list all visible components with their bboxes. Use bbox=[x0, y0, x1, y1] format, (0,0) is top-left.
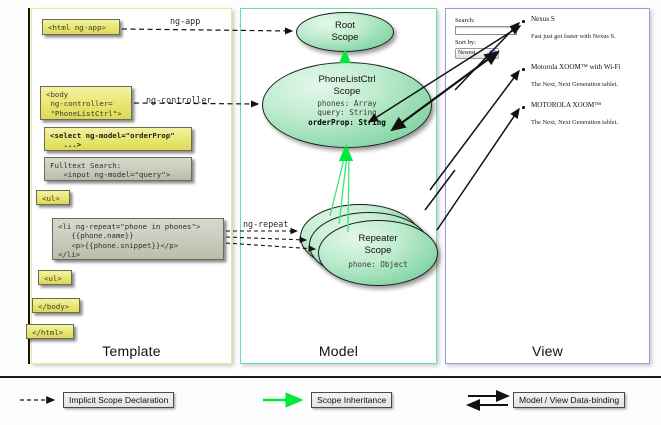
legend-data-binding: Model / View Data-binding bbox=[513, 392, 625, 408]
phone-snippet: The Next, Next Generation tablet. bbox=[531, 119, 618, 126]
figure-bottom-rule bbox=[0, 376, 661, 378]
legend-implicit-scope: Implicit Scope Declaration bbox=[63, 392, 174, 408]
panel-template-label: Template bbox=[32, 343, 231, 359]
body-close-box: </body> bbox=[32, 298, 80, 313]
phone-name[interactable]: MOTOROLA XOOM™ bbox=[531, 101, 601, 109]
panel-model-label: Model bbox=[241, 343, 436, 359]
repeater-scope-title: Repeater Scope bbox=[319, 233, 437, 256]
body-tag-box: <body ng-controller= "PhoneListCtrl"> bbox=[40, 86, 132, 120]
root-scope-title: Root Scope bbox=[297, 20, 393, 43]
html-tag-box: <html ng-app> bbox=[42, 19, 120, 35]
li-repeat-box: <li ng-repeat="phone in phones"> {{phone… bbox=[52, 218, 224, 260]
panel-view: View bbox=[445, 8, 650, 364]
phonelistctrl-scope-title: PhoneListCtrl Scope bbox=[263, 74, 431, 97]
legend: Implicit Scope Declaration Scope Inherit… bbox=[0, 382, 661, 425]
phone-snippet: The Next, Next Generation tablet. bbox=[531, 81, 618, 88]
panel-view-label: View bbox=[446, 343, 649, 359]
select-tag-box: <select ng-model="orderProp" ...> bbox=[44, 127, 192, 151]
repeater-scope-props: phone: Object bbox=[319, 260, 437, 269]
ng-controller-label: ng-controller bbox=[146, 95, 212, 105]
root-scope-ellipse: Root Scope bbox=[296, 12, 394, 52]
phone-snippet: Fast just got faster with Nexus S. bbox=[531, 33, 616, 40]
list-bullet-icon bbox=[522, 20, 525, 23]
ul-open-box: <ul> bbox=[36, 190, 70, 205]
legend-scope-inherit: Scope Inheritance bbox=[311, 392, 392, 408]
list-bullet-icon bbox=[522, 68, 525, 71]
ul-close-box: <ul> bbox=[38, 270, 72, 285]
sort-by-selected-value: Newest bbox=[458, 50, 475, 56]
sort-by-select[interactable]: Newest ⇳ bbox=[455, 48, 499, 59]
fulltext-search-box: Fulltext Search: <input ng-model="query"… bbox=[44, 157, 192, 181]
ng-repeat-label: ng-repeat bbox=[243, 219, 288, 229]
phonelistctrl-scope-ellipse: PhoneListCtrl Scope phones: Array query:… bbox=[262, 62, 432, 148]
phone-name[interactable]: Motorola XOOM™ with Wi-Fi bbox=[531, 63, 621, 71]
figure-left-edge bbox=[28, 8, 30, 364]
phone-name[interactable]: Nexus S bbox=[531, 15, 555, 23]
list-bullet-icon bbox=[522, 106, 525, 109]
search-label: Search: bbox=[455, 17, 475, 24]
sort-by-label: Sort by: bbox=[455, 39, 476, 46]
phonelistctrl-scope-props-bold: orderProp: String bbox=[263, 118, 431, 127]
phonelistctrl-scope-props-plain: phones: Array query: String bbox=[263, 99, 431, 118]
html-close-box: </html> bbox=[26, 324, 74, 339]
search-input[interactable] bbox=[455, 26, 517, 35]
ng-app-label: ng-app bbox=[170, 16, 200, 26]
repeater-scope-ellipse-front: Repeater Scope phone: Object bbox=[318, 220, 438, 286]
chevron-updown-icon[interactable]: ⇳ bbox=[489, 50, 497, 57]
angularjs-scope-diagram: Template Model View <html ng-app> <body … bbox=[0, 0, 661, 425]
